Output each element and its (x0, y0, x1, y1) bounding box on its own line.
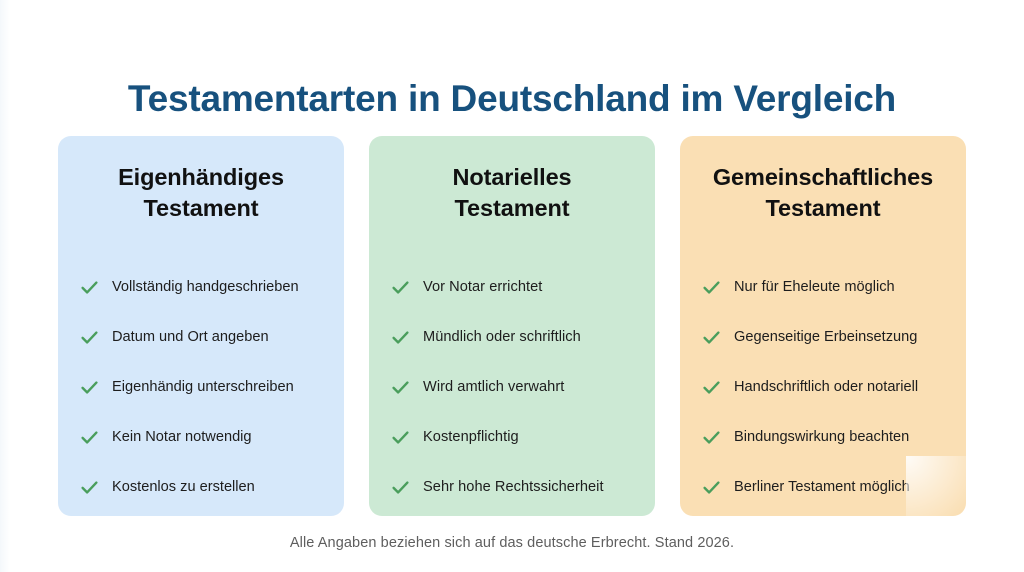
check-icon (702, 278, 721, 297)
list-item: Vollständig handgeschrieben (58, 262, 344, 312)
check-icon (80, 478, 99, 497)
card-feature-list: Nur für Eheleute möglich Gegenseitige Er… (680, 262, 966, 512)
card-gemeinschaftliches-testament: Gemeinschaftliches Testament Nur für Ehe… (680, 136, 966, 516)
list-item: Kein Notar notwendig (58, 412, 344, 462)
card-heading: Gemeinschaftliches Testament (680, 162, 966, 224)
list-item-label: Vollständig handgeschrieben (112, 278, 299, 297)
list-item-label: Berliner Testament möglich (734, 478, 910, 497)
card-heading-line2: Testament (455, 195, 570, 221)
list-item: Gegenseitige Erbeinsetzung (680, 312, 966, 362)
card-feature-list: Vor Notar errichtet Mündlich oder schrif… (369, 262, 655, 512)
list-item-label: Gegenseitige Erbeinsetzung (734, 328, 917, 347)
card-eigenhaendiges-testament: Eigenhändiges Testament Vollständig hand… (58, 136, 344, 516)
check-icon (391, 478, 410, 497)
check-icon (80, 428, 99, 447)
list-item-label: Vor Notar errichtet (423, 278, 542, 297)
list-item-label: Wird amtlich verwahrt (423, 378, 564, 397)
list-item: Mündlich oder schriftlich (369, 312, 655, 362)
card-feature-list: Vollständig handgeschrieben Datum und Or… (58, 262, 344, 512)
infographic-page: Testamentarten in Deutschland im Verglei… (0, 0, 1024, 572)
list-item: Kostenpflichtig (369, 412, 655, 462)
list-item: Bindungswirkung beachten (680, 412, 966, 462)
list-item-label: Datum und Ort angeben (112, 328, 269, 347)
check-icon (391, 278, 410, 297)
list-item-label: Handschriftlich oder notariell (734, 378, 918, 397)
list-item-label: Eigenhändig unterschreiben (112, 378, 294, 397)
comparison-cards: Eigenhändiges Testament Vollständig hand… (58, 136, 966, 516)
card-heading: Notarielles Testament (369, 162, 655, 224)
page-title: Testamentarten in Deutschland im Verglei… (0, 77, 1024, 121)
check-icon (80, 328, 99, 347)
list-item: Datum und Ort angeben (58, 312, 344, 362)
card-heading-line2: Testament (144, 195, 259, 221)
list-item: Wird amtlich verwahrt (369, 362, 655, 412)
list-item: Kostenlos zu erstellen (58, 462, 344, 512)
list-item-label: Bindungswirkung beachten (734, 428, 909, 447)
check-icon (80, 378, 99, 397)
list-item-label: Sehr hohe Rechtssicherheit (423, 478, 604, 497)
check-icon (391, 328, 410, 347)
list-item-label: Kostenpflichtig (423, 428, 519, 447)
card-heading: Eigenhändiges Testament (58, 162, 344, 224)
list-item: Vor Notar errichtet (369, 262, 655, 312)
card-heading-line1: Eigenhändiges (118, 164, 284, 190)
list-item-label: Mündlich oder schriftlich (423, 328, 581, 347)
card-heading-line1: Gemeinschaftliches (713, 164, 933, 190)
list-item-label: Kein Notar notwendig (112, 428, 252, 447)
card-heading-line2: Testament (766, 195, 881, 221)
list-item: Eigenhändig unterschreiben (58, 362, 344, 412)
list-item-label: Nur für Eheleute möglich (734, 278, 895, 297)
list-item: Sehr hohe Rechtssicherheit (369, 462, 655, 512)
check-icon (391, 428, 410, 447)
check-icon (702, 478, 721, 497)
check-icon (391, 378, 410, 397)
list-item: Nur für Eheleute möglich (680, 262, 966, 312)
list-item-label: Kostenlos zu erstellen (112, 478, 255, 497)
footnote: Alle Angaben beziehen sich auf das deuts… (0, 533, 1024, 553)
card-heading-line1: Notarielles (452, 164, 571, 190)
check-icon (702, 328, 721, 347)
check-icon (702, 428, 721, 447)
check-icon (702, 378, 721, 397)
card-notarielles-testament: Notarielles Testament Vor Notar errichte… (369, 136, 655, 516)
list-item: Berliner Testament möglich (680, 462, 966, 512)
check-icon (80, 278, 99, 297)
list-item: Handschriftlich oder notariell (680, 362, 966, 412)
